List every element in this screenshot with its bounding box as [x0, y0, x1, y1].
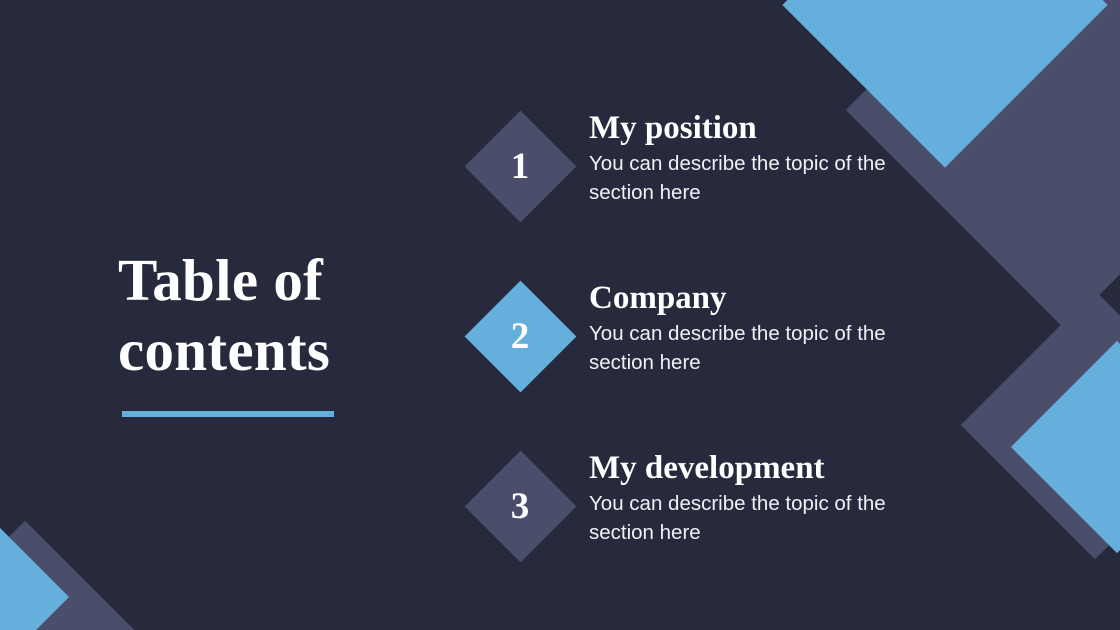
toc-text-3: My development You can describe the topi…: [576, 444, 964, 548]
toc-number-3: 3: [511, 488, 530, 525]
decorative-square-right-purple: [961, 291, 1120, 560]
list-item[interactable]: 1 My position You can describe the topic…: [464, 104, 964, 274]
page-title-line-1: Table of: [118, 247, 323, 313]
toc-marker-2: 2: [464, 280, 576, 392]
toc-heading-3: My development: [589, 450, 964, 486]
toc-description-3: You can describe the topic of the sectio…: [589, 489, 909, 547]
toc-heading-2: Company: [589, 280, 964, 316]
toc-description-1: You can describe the topic of the sectio…: [589, 149, 909, 207]
page-title: Table ofcontents: [118, 246, 448, 385]
toc-text-1: My position You can describe the topic o…: [576, 104, 964, 208]
title-block: Table ofcontents: [118, 246, 448, 417]
toc-number-1: 1: [511, 148, 530, 185]
toc-description-2: You can describe the topic of the sectio…: [589, 319, 909, 377]
decorative-square-bottom-left-blue: [0, 491, 69, 630]
list-item[interactable]: 3 My development You can describe the to…: [464, 444, 964, 614]
list-item[interactable]: 2 Company You can describe the topic of …: [464, 274, 964, 444]
toc-heading-1: My position: [589, 110, 964, 146]
table-of-contents-list: 1 My position You can describe the topic…: [464, 104, 964, 614]
toc-marker-1: 1: [464, 110, 576, 222]
page-title-line-2: contents: [118, 317, 330, 383]
toc-text-2: Company You can describe the topic of th…: [576, 274, 964, 378]
title-underline-accent: [122, 411, 334, 417]
toc-number-2: 2: [511, 318, 530, 355]
decorative-square-right-blue: [1011, 341, 1120, 553]
toc-marker-3: 3: [464, 450, 576, 562]
decorative-square-bottom-left-purple: [0, 521, 159, 630]
slide-canvas: Table ofcontents 1 My position You can d…: [0, 0, 1120, 630]
